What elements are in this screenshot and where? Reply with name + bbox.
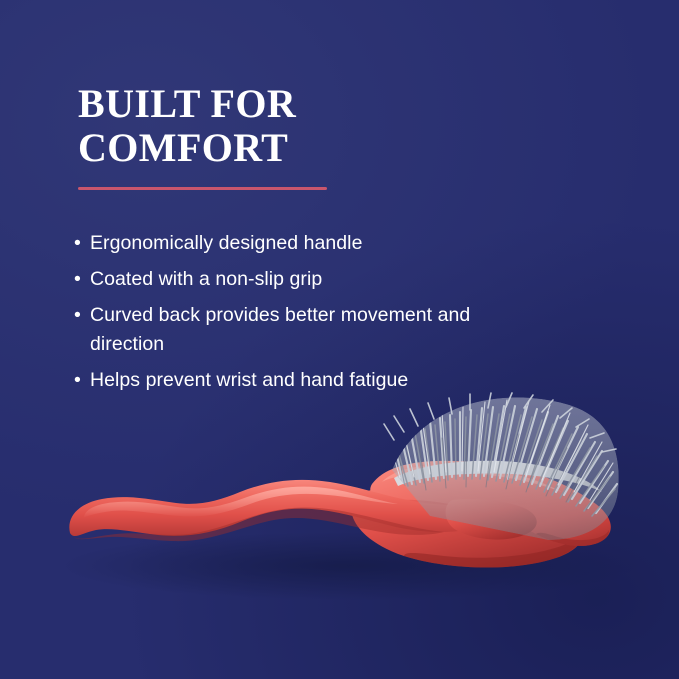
list-item: • Helps prevent wrist and hand fatigue (74, 366, 474, 395)
curved-back-plate-highlight (382, 465, 562, 492)
brush-head-body-shade (404, 534, 582, 568)
bullet-icon: • (74, 366, 81, 395)
bullet-icon: • (74, 229, 81, 258)
title-divider (78, 187, 327, 190)
bristle-base-strip (394, 461, 602, 492)
page-title-line-1: BUILT FOR (78, 82, 498, 126)
handle-underside-shade (72, 508, 444, 542)
list-item: • Curved back provides better movement a… (74, 301, 474, 359)
page-title-line-2: COMFORT (78, 126, 498, 170)
page-title: BUILT FOR COMFORT (78, 82, 498, 170)
curved-back-plate-edge (536, 530, 609, 546)
handle-neck (446, 499, 537, 539)
list-item-label: Helps prevent wrist and hand fatigue (90, 366, 474, 395)
brush-head-body (351, 479, 584, 568)
infographic-page: BUILT FOR COMFORT • Ergonomically design… (0, 0, 679, 679)
list-item: • Coated with a non-slip grip (74, 265, 474, 294)
product-shadow (60, 532, 640, 600)
curved-back-plate (370, 461, 611, 546)
handle-highlight (84, 487, 398, 518)
handle (69, 480, 476, 536)
list-item: • Ergonomically designed handle (74, 229, 474, 258)
list-item-label: Curved back provides better movement and… (90, 301, 474, 359)
metal-bristles (386, 397, 619, 540)
feature-list: • Ergonomically designed handle • Coated… (74, 229, 474, 402)
bullet-icon: • (74, 265, 81, 294)
list-item-label: Ergonomically designed handle (90, 229, 474, 258)
list-item-label: Coated with a non-slip grip (90, 265, 474, 294)
bullet-icon: • (74, 301, 81, 330)
